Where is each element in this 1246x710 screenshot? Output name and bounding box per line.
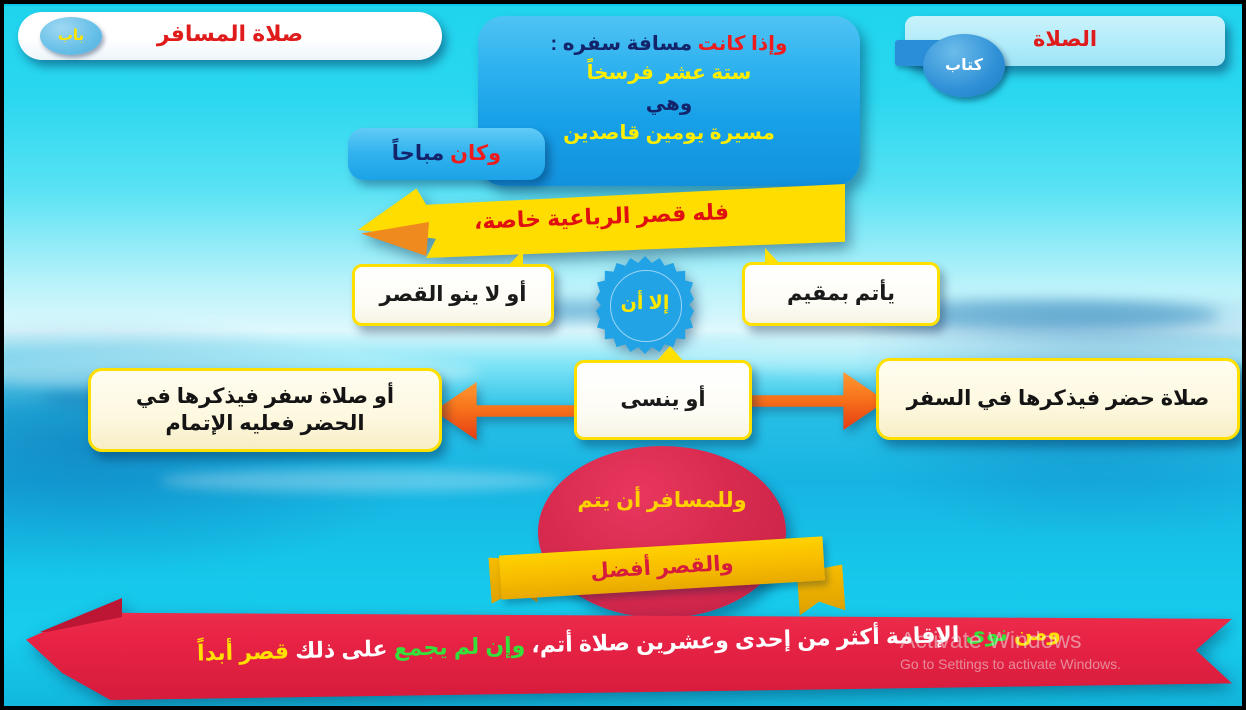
ruling-arrow-banner: فله قصر الرباعية خاصة، [358, 184, 845, 258]
callout-no-qasr-intent: أو لا ينو القصر [352, 264, 554, 326]
bab-badge: باب [40, 17, 102, 55]
chapter-header-left: صلاة المسافر باب [18, 12, 442, 60]
banner-phrase-ala-dhalik: على ذلك [295, 636, 388, 663]
banner-word-nawa: نوى [965, 621, 1008, 647]
condition-word-masafa: مسافة سفره : [551, 33, 693, 55]
callout-follow-resident-text: يأتم بمقيم [777, 281, 905, 307]
condition-line-2: ستة عشر فرسخاً [478, 61, 860, 86]
callout-no-qasr-intent-tail [507, 250, 523, 267]
preference-circle-text: وللمسافر أن يتم [538, 488, 786, 513]
exception-burst-text: إلا أن [596, 292, 694, 315]
kitab-badge-label: كتاب [923, 34, 1005, 97]
callout-forgets: أو ينسى [574, 360, 752, 440]
arrow-right-icon [744, 372, 886, 430]
bab-badge-label: باب [40, 17, 102, 55]
permissible-word-mubahan: مباحاً [392, 142, 444, 165]
background-top-strip [0, 0, 1246, 6]
permissible-word-wakana: وكان [450, 142, 501, 165]
slide-canvas: صلاة المسافر باب الصلاة كتاب وإذا كانت م… [0, 0, 1246, 710]
banner-phrase-qasr-abadan: قصر أبداً [197, 638, 290, 665]
bottom-banner: ومن نوى الإقامة أكثر من إحدى وعشرين صلاة… [26, 596, 1232, 700]
kitab-badge: كتاب [923, 34, 1005, 97]
callout-follow-resident: يأتم بمقيم [742, 262, 940, 326]
callout-residence-prayer-in-travel: صلاة حضر فيذكرها في السفر [876, 358, 1240, 440]
exception-burst-badge: إلا أن [596, 256, 694, 354]
banner-phrase-lam-yajma: وإن لم يجمع [393, 633, 525, 661]
callout-travel-prayer-in-residence: أو صلاة سفر فيذكرها في الحضر فعليه الإتم… [88, 368, 442, 452]
permissible-pill-text: وكان مباحاً [348, 128, 545, 180]
callout-forgets-tail [655, 346, 685, 363]
arrow-left-shape [434, 382, 576, 440]
callout-forgets-text: أو ينسى [610, 387, 715, 413]
condition-line-1: وإذا كانت مسافة سفره : [478, 32, 860, 57]
arrow-right-shape [744, 372, 886, 430]
callout-follow-resident-tail [765, 248, 781, 265]
arrow-left-icon [434, 382, 576, 440]
book-header-right: الصلاة كتاب [905, 16, 1225, 66]
callout-travel-prayer-in-residence-text: أو صلاة سفر فيذكرها في الحضر فعليه الإتم… [91, 383, 439, 438]
banner-word-wa-man: ومن [1013, 619, 1061, 645]
condition-word-wa-itha: وإذا [751, 33, 787, 55]
condition-word-kanat: كانت [698, 33, 746, 55]
permissible-pill: وكان مباحاً [348, 128, 545, 180]
condition-line-3: وهي [478, 92, 860, 117]
callout-no-qasr-intent-text: أو لا ينو القصر [370, 282, 537, 308]
callout-residence-prayer-in-travel-text: صلاة حضر فيذكرها في السفر [895, 385, 1222, 412]
